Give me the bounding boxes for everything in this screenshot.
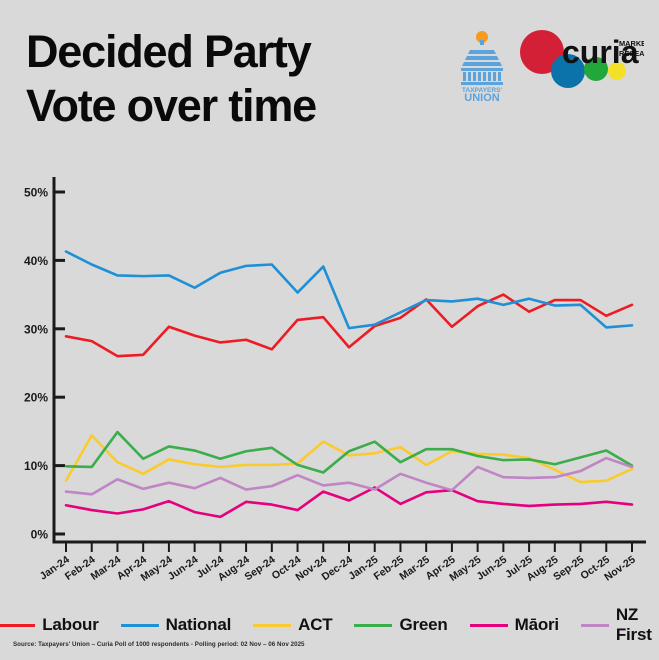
y-tick-label: 20% (24, 391, 48, 405)
legend-swatch-icon (581, 624, 609, 627)
page-title: Decided Party Vote over time (26, 25, 316, 133)
chart-canvas: 0%10%20%30%40%50% Jan-24Feb-24Mar-24Apr-… (0, 160, 659, 600)
legend-item-national[interactable]: National (121, 615, 231, 635)
legend-swatch-icon (0, 624, 35, 627)
line-chart: 0%10%20%30%40%50% Jan-24Feb-24Mar-24Apr-… (0, 160, 659, 600)
legend-item-nz-first[interactable]: NZ First (581, 605, 659, 645)
legend-label: National (166, 615, 231, 635)
source-note: Source: Taxpayers' Union – Curia Poll of… (13, 641, 305, 648)
legend-swatch-icon (470, 624, 508, 627)
series-line-act (66, 436, 632, 483)
legend-label: ACT (298, 615, 332, 635)
legend-swatch-icon (354, 624, 392, 627)
y-tick-label: 10% (24, 459, 48, 473)
chart-axes (54, 177, 646, 542)
legend-item-labour[interactable]: Labour (0, 615, 99, 635)
legend-swatch-icon (253, 624, 291, 627)
y-tick-label: 40% (24, 254, 48, 268)
legend-label: Green (399, 615, 447, 635)
page-header: Decided Party Vote over time TAXPAYERS' … (0, 0, 659, 160)
series-line-māori (66, 487, 632, 516)
y-tick-label: 0% (31, 528, 49, 542)
y-axis-ticks: 0%10%20%30%40%50% (24, 186, 65, 542)
taxpayers-union-logo: TAXPAYERS' UNION (450, 30, 514, 102)
x-tick-label: Jun-24 (166, 554, 201, 583)
curia-sub-market: MARKET (619, 39, 644, 48)
x-axis-ticks: Jan-24Feb-24Mar-24Apr-24May-24Jun-24Jul-… (38, 542, 638, 584)
y-tick-label: 30% (24, 322, 48, 336)
curia-sub-research: RESEARCH (619, 49, 644, 58)
curia-logo: curia MARKET RESEARCH (518, 30, 644, 92)
legend-item-māori[interactable]: Māori (470, 615, 559, 635)
legend-item-green[interactable]: Green (354, 615, 447, 635)
legend-swatch-icon (121, 624, 159, 627)
legend-label: NZ First (616, 605, 659, 645)
legend-item-act[interactable]: ACT (253, 615, 332, 635)
series-line-national (66, 252, 632, 329)
taxpayers-union-line2: UNION (464, 92, 500, 102)
chart-series (66, 252, 632, 517)
x-tick-label: Jun-25 (474, 554, 509, 583)
legend-label: Labour (42, 615, 98, 635)
legend-label: Māori (515, 615, 559, 635)
y-tick-label: 50% (24, 186, 48, 200)
chart-legend: LabourNationalACTGreenMāoriNZ First (0, 608, 659, 642)
